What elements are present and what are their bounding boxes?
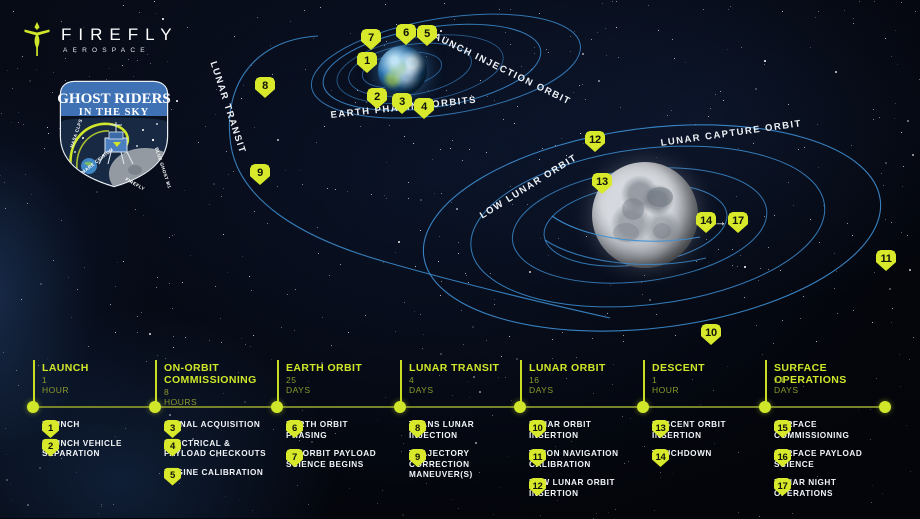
phase-title: DESCENT bbox=[652, 362, 772, 374]
patch-title-line2: IN THE SKY bbox=[79, 107, 150, 118]
phase-item-list: 15 SURFACE COMMISSIONING 16 SURFACE PAYL… bbox=[774, 420, 878, 507]
timeline-badge-5: 5 bbox=[164, 468, 181, 486]
phase-item-list: 3 SIGNAL ACQUISITION 4 ELECTRICAL & PAYL… bbox=[164, 420, 268, 486]
brand-name: FIREFLY bbox=[61, 25, 179, 45]
phase-duration: 1 HOUR bbox=[42, 375, 69, 395]
timeline-item[interactable]: 7 ON-ORBIT PAYLOAD SCIENCE BEGINS bbox=[286, 449, 390, 470]
patch-title-line1: GHOST RIDERS bbox=[57, 91, 171, 107]
phase-item-list: 6 EARTH ORBIT PHASING 7 ON-ORBIT PAYLOAD… bbox=[286, 420, 390, 478]
timeline-item[interactable]: 2 LAUNCH VEHICLE SEPARATION bbox=[42, 439, 146, 460]
phase-duration: 8 HOURS bbox=[164, 387, 197, 407]
timeline-item[interactable]: 11 VISION NAVIGATION CALIBRATION bbox=[529, 449, 633, 470]
phase-rule bbox=[155, 360, 157, 406]
timeline-dot-0[interactable] bbox=[27, 401, 39, 413]
phase-duration: 16 DAYS bbox=[529, 375, 554, 395]
timeline-item[interactable]: 4 ELECTRICAL & PAYLOAD CHECKOUTS bbox=[164, 439, 268, 460]
timeline-item[interactable]: 9 TRAJECTORY CORRECTION MANEUVER(S) bbox=[409, 449, 513, 481]
phase-duration: 4 DAYS bbox=[409, 375, 434, 395]
phase-rule bbox=[765, 360, 767, 406]
phase-title: LUNAR TRANSIT bbox=[409, 362, 529, 374]
phase-title: LUNAR ORBIT bbox=[529, 362, 649, 374]
timeline-item[interactable]: 3 SIGNAL ACQUISITION bbox=[164, 420, 268, 431]
timeline-dot-2[interactable] bbox=[271, 401, 283, 413]
timeline-dot-end[interactable] bbox=[879, 401, 891, 413]
firefly-mark-icon bbox=[24, 22, 50, 56]
timeline-item[interactable]: 14 TOUCHDOWN bbox=[652, 449, 756, 460]
timeline-item[interactable]: 15 SURFACE COMMISSIONING bbox=[774, 420, 878, 441]
timeline-dot-4[interactable] bbox=[514, 401, 526, 413]
timeline-dot-6[interactable] bbox=[759, 401, 771, 413]
phase-title: ON-ORBIT COMMISSIONING bbox=[164, 362, 284, 386]
timeline-dot-5[interactable] bbox=[637, 401, 649, 413]
phase-item-list: 13 DESCENT ORBIT INSERTION 14 TOUCHDOWN bbox=[652, 420, 756, 468]
phase-item-list: 1 LAUNCH 2 LAUNCH VEHICLE SEPARATION bbox=[42, 420, 146, 468]
timeline-item[interactable]: 16 SURFACE PAYLOAD SCIENCE bbox=[774, 449, 878, 470]
timeline-dot-1[interactable] bbox=[149, 401, 161, 413]
phase-title: EARTH ORBIT bbox=[286, 362, 406, 374]
mission-patch: GHOST RIDERS IN THE SKY NASA CLPS MARE C… bbox=[53, 78, 175, 190]
phase-duration: 14 DAYS bbox=[774, 375, 799, 395]
timeline-item[interactable]: 17 LUNAR NIGHT OPERATIONS bbox=[774, 478, 878, 499]
marker-arrow-icon: → bbox=[714, 215, 727, 228]
brand-sub: AEROSPACE bbox=[61, 47, 179, 54]
timeline-item[interactable]: 6 EARTH ORBIT PHASING bbox=[286, 420, 390, 441]
phase-item-list: 8 TRANS LUNAR INJECTION 9 TRAJECTORY COR… bbox=[409, 420, 513, 489]
phase-rule bbox=[643, 360, 645, 406]
phase-rule bbox=[400, 360, 402, 406]
phase-duration: 25 DAYS bbox=[286, 375, 311, 395]
timeline-item[interactable]: 12 LOW LUNAR ORBIT INSERTION bbox=[529, 478, 633, 499]
phase-title: LAUNCH bbox=[42, 362, 162, 374]
phase-duration: 1 HOUR bbox=[652, 375, 679, 395]
timeline-badge-3: 3 bbox=[164, 420, 181, 438]
phase-item-list: 10 LUNAR ORBIT INSERTION 11 VISION NAVIG… bbox=[529, 420, 633, 507]
phase-rule bbox=[520, 360, 522, 406]
timeline-badge-14: 14 bbox=[652, 449, 669, 467]
timeline-item[interactable]: 5 ENGINE CALIBRATION bbox=[164, 468, 268, 479]
mission-timeline: LAUNCH 1 HOUR 1 LAUNCH 2 LAUNCH VEHICLE … bbox=[0, 358, 920, 518]
timeline-item[interactable]: 1 LAUNCH bbox=[42, 420, 146, 431]
firefly-wordmark: FIREFLY AEROSPACE bbox=[61, 25, 179, 54]
timeline-dot-3[interactable] bbox=[394, 401, 406, 413]
phase-rule bbox=[33, 360, 35, 406]
firefly-logo: FIREFLY AEROSPACE bbox=[24, 22, 179, 56]
timeline-item[interactable]: 8 TRANS LUNAR INJECTION bbox=[409, 420, 513, 441]
timeline-item[interactable]: 10 LUNAR ORBIT INSERTION bbox=[529, 420, 633, 441]
phase-rule bbox=[277, 360, 279, 406]
timeline-badge-1: 1 bbox=[42, 420, 59, 438]
timeline-item[interactable]: 13 DESCENT ORBIT INSERTION bbox=[652, 420, 756, 441]
